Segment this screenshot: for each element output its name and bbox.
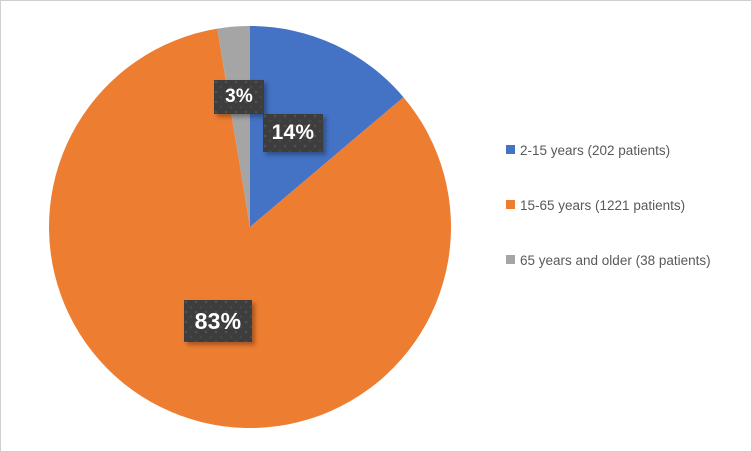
pie-svg	[1, 1, 491, 452]
legend-item-2-15-years[interactable]: 2-15 years (202 patients)	[506, 141, 741, 160]
legend-item-15-65-years[interactable]: 15-65 years (1221 patients)	[506, 196, 741, 215]
legend-label-15-65-years: 15-65 years (1221 patients)	[520, 196, 685, 215]
data-label-2-15-years[interactable]: 14%	[263, 114, 323, 152]
pie-chart-container: 3% 14% 83% 2-15 years (202 patients) 15-…	[0, 0, 752, 452]
pie-plot-area[interactable]: 3% 14% 83%	[1, 1, 491, 452]
legend-swatch-icon-gray	[506, 255, 515, 264]
legend-swatch-icon-orange	[506, 200, 515, 209]
legend-swatch-icon-blue	[506, 145, 515, 154]
data-label-65-and-older[interactable]: 3%	[214, 80, 264, 114]
legend-label-2-15-years: 2-15 years (202 patients)	[520, 141, 670, 160]
legend-label-65-and-older: 65 years and older (38 patients)	[520, 251, 711, 270]
legend-item-65-and-older[interactable]: 65 years and older (38 patients)	[506, 251, 741, 270]
chart-legend[interactable]: 2-15 years (202 patients) 15-65 years (1…	[506, 141, 741, 306]
data-label-15-65-years[interactable]: 83%	[184, 300, 252, 342]
